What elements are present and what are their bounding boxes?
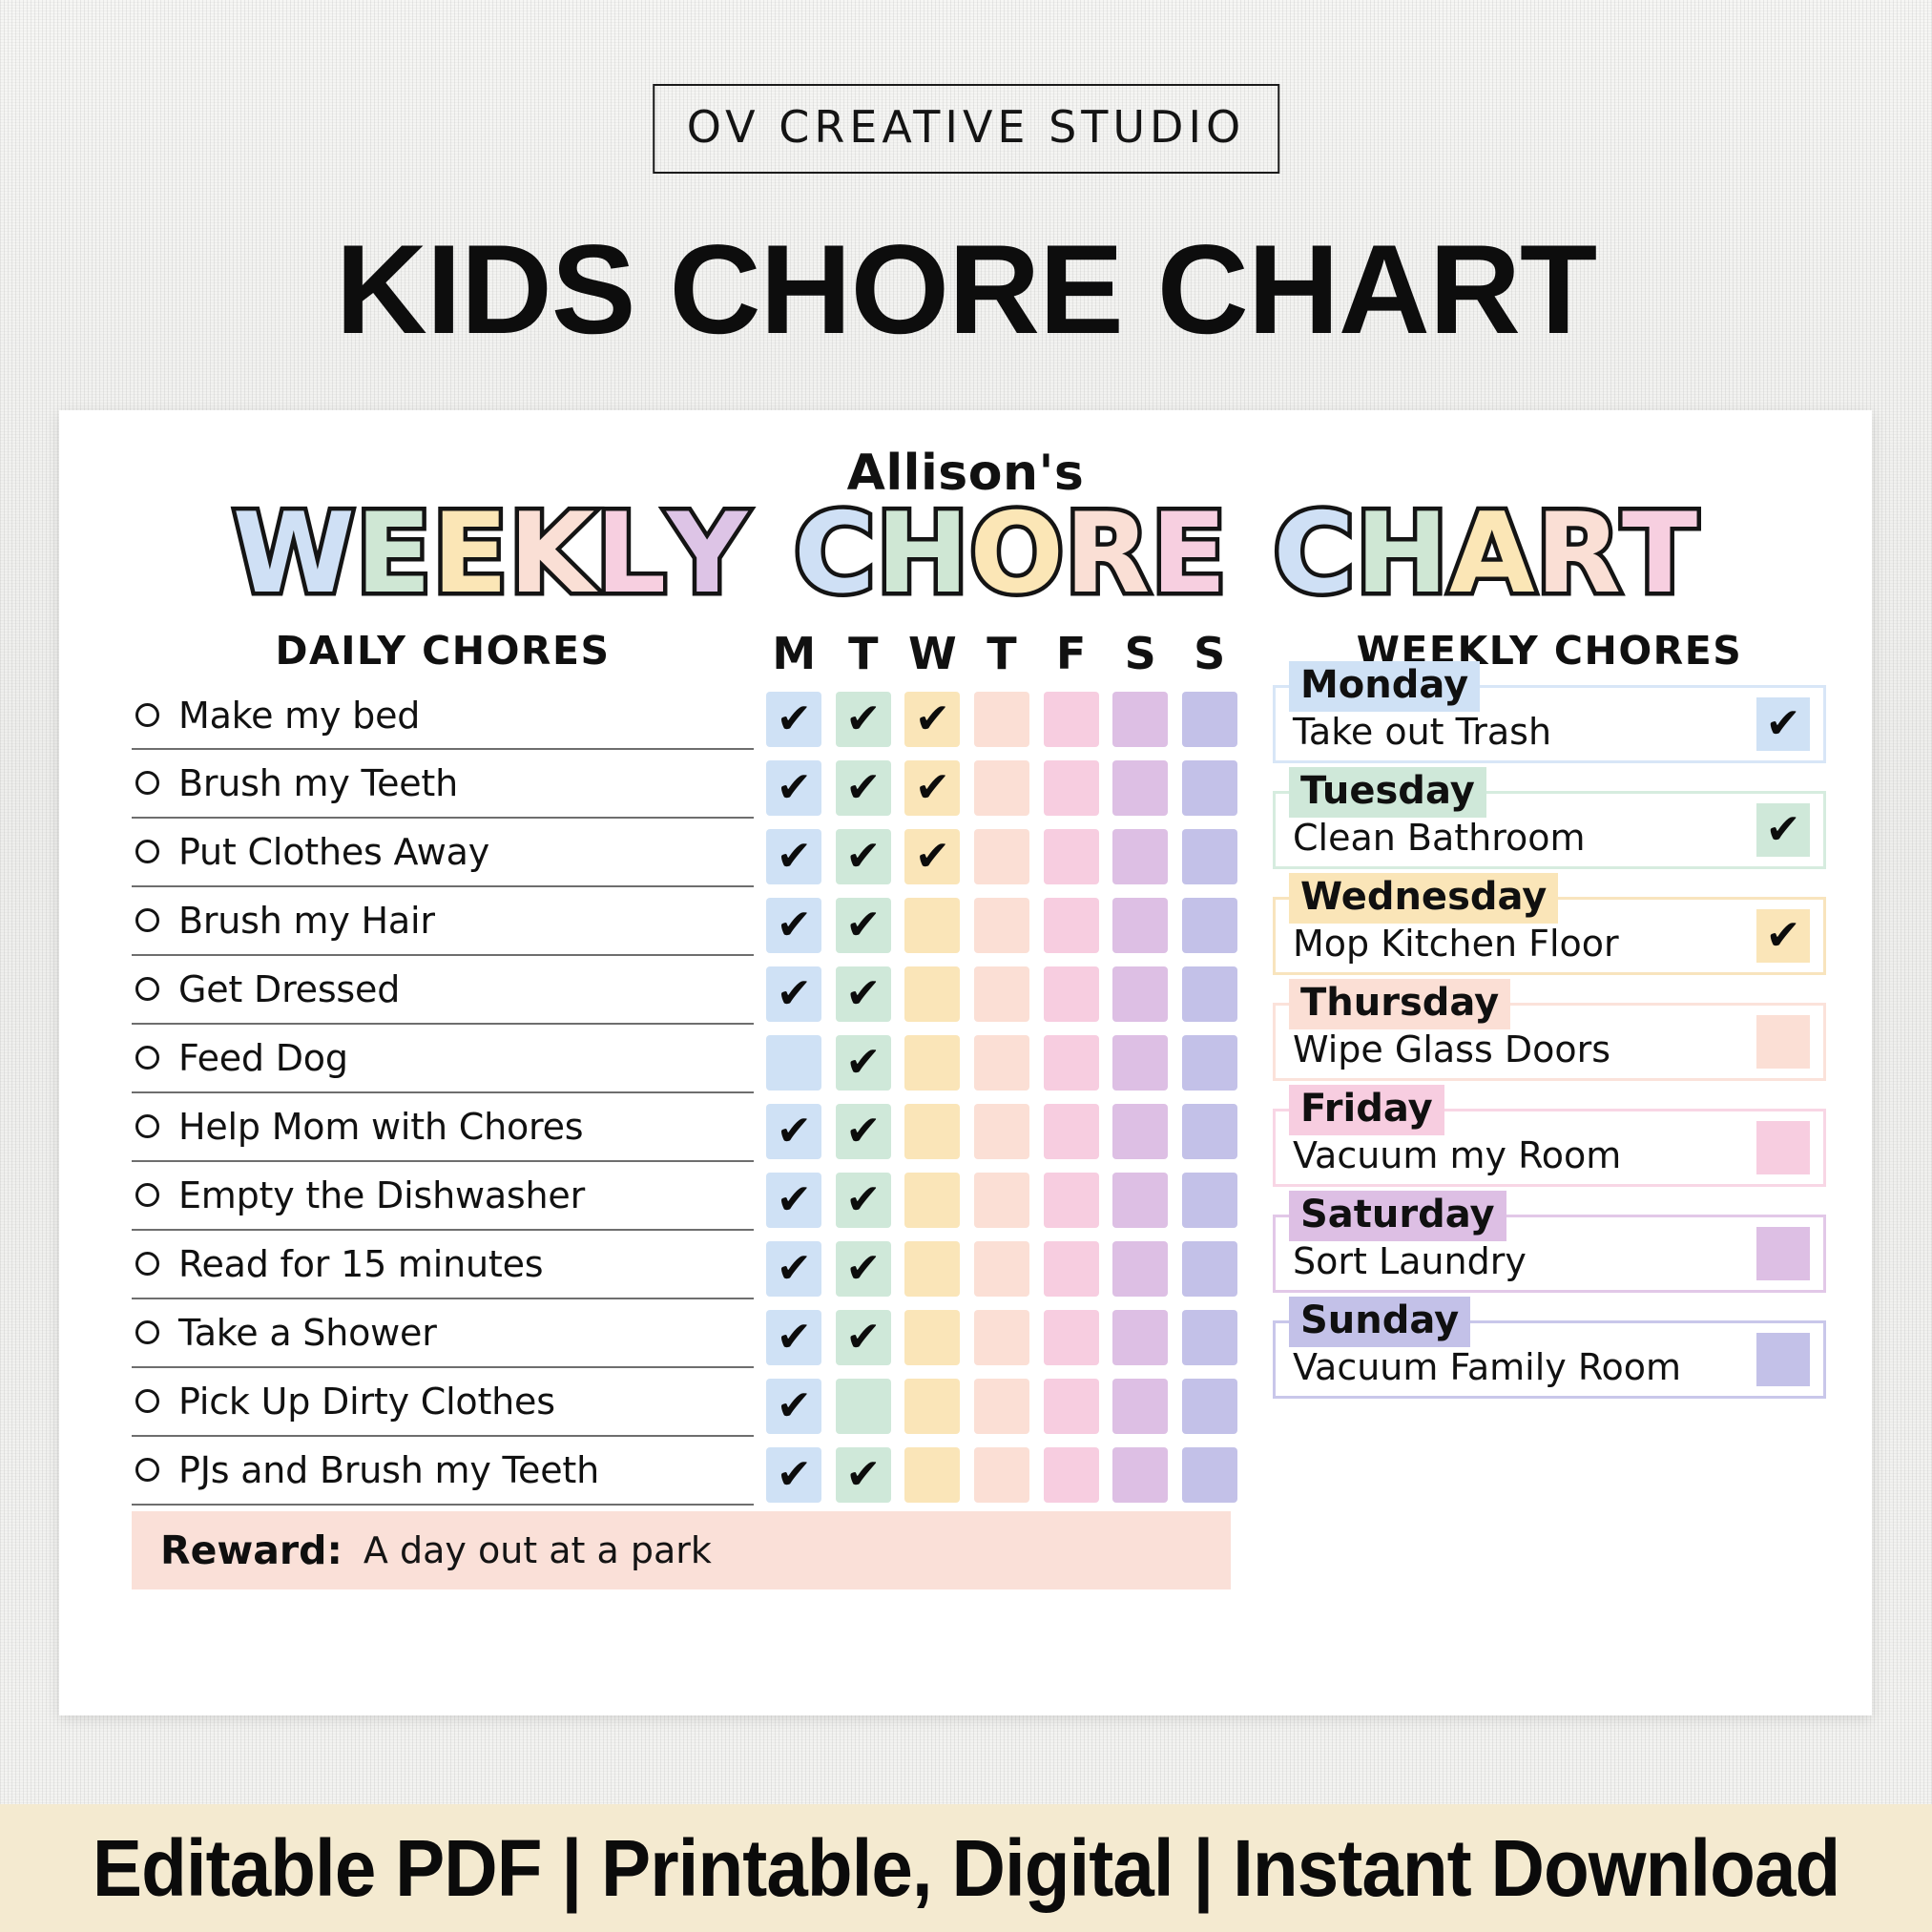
grid-cell-empty[interactable] (1182, 829, 1237, 884)
bubble-letter: E (356, 498, 432, 611)
grid-cell-wrapper: ✔ (759, 692, 829, 747)
bubble-word-chart: CHART (1274, 498, 1698, 611)
check-icon: ✔ (777, 1317, 812, 1359)
reward-value[interactable]: A day out at a park (364, 1529, 712, 1571)
grid-cell-empty[interactable] (766, 1035, 821, 1091)
grid-cell-empty[interactable] (1044, 1173, 1099, 1228)
bubble-word-chore: CHORE (794, 498, 1227, 611)
grid-cell-empty[interactable] (1112, 966, 1168, 1022)
weekly-checkbox-checked[interactable]: ✔ (1756, 697, 1810, 751)
grid-cell-wrapper (967, 1104, 1037, 1159)
week-grid-row: ✔✔✔ (759, 685, 1244, 754)
week-grid: ✔✔✔✔✔✔✔✔✔✔✔✔✔✔✔✔✔✔✔✔✔✔✔✔✔ (759, 685, 1244, 1509)
week-grid-row: ✔✔ (759, 1166, 1244, 1235)
circle-checkbox-icon[interactable] (135, 1252, 159, 1276)
bubble-letter: Y (667, 498, 748, 611)
grid-cell-checked[interactable]: ✔ (836, 966, 891, 1022)
grid-cell-wrapper: ✔ (759, 1104, 829, 1159)
grid-cell-wrapper (1106, 1241, 1175, 1297)
grid-cell-checked[interactable]: ✔ (766, 1241, 821, 1297)
grid-cell-wrapper (1036, 898, 1106, 953)
bubble-letter: E (1151, 498, 1227, 611)
grid-cell-checked[interactable]: ✔ (836, 692, 891, 747)
weekly-checkbox-checked[interactable]: ✔ (1756, 803, 1810, 857)
grid-cell-empty[interactable] (974, 692, 1029, 747)
weekly-day-label: Thursday (1289, 979, 1510, 1029)
grid-cell-checked[interactable]: ✔ (766, 898, 821, 953)
daily-chore-row[interactable]: Help Mom with Chores (132, 1093, 754, 1162)
grid-cell-checked[interactable]: ✔ (766, 1173, 821, 1228)
grid-cell-wrapper (898, 966, 967, 1022)
grid-cell-wrapper (1174, 1173, 1244, 1228)
grid-cell-wrapper: ✔ (829, 1241, 899, 1297)
grid-cell-empty[interactable] (836, 1379, 891, 1434)
daily-chore-label: Get Dressed (178, 968, 400, 1010)
check-icon: ✔ (777, 698, 812, 740)
grid-cell-empty[interactable] (904, 1241, 960, 1297)
daily-chore-row[interactable]: Pick Up Dirty Clothes (132, 1368, 754, 1437)
grid-cell-empty[interactable] (1112, 898, 1168, 953)
weekly-chore-card[interactable]: SaturdaySort Laundry (1273, 1215, 1826, 1293)
grid-cell-empty[interactable] (1182, 898, 1237, 953)
grid-cell-wrapper (1106, 1173, 1175, 1228)
check-icon: ✔ (777, 1111, 812, 1153)
bubble-letter: T (1622, 498, 1698, 611)
grid-cell-wrapper: ✔ (829, 898, 899, 953)
grid-cell-checked[interactable]: ✔ (766, 1447, 821, 1503)
grid-cell-wrapper (1174, 692, 1244, 747)
grid-cell-empty[interactable] (974, 1310, 1029, 1365)
grid-cell-empty[interactable] (1182, 1173, 1237, 1228)
grid-cell-wrapper (898, 1447, 967, 1503)
weekly-task-label: Wipe Glass Doors (1293, 1028, 1610, 1070)
grid-cell-wrapper (898, 1310, 967, 1365)
grid-cell-wrapper (967, 1310, 1037, 1365)
check-icon: ✔ (845, 973, 881, 1015)
circle-checkbox-icon[interactable] (135, 1046, 159, 1070)
weekly-task-label: Clean Bathroom (1293, 817, 1586, 859)
grid-cell-wrapper (898, 898, 967, 953)
grid-cell-wrapper (1174, 829, 1244, 884)
grid-cell-wrapper (1036, 692, 1106, 747)
grid-cell-wrapper: ✔ (898, 760, 967, 816)
circle-checkbox-icon[interactable] (135, 1183, 159, 1207)
grid-cell-wrapper (1036, 1447, 1106, 1503)
week-grid-row: ✔ (759, 1028, 1244, 1097)
grid-cell-wrapper (967, 1035, 1037, 1091)
grid-cell-empty[interactable] (1182, 692, 1237, 747)
daily-chore-row[interactable]: Take a Shower (132, 1299, 754, 1368)
weekly-chore-card[interactable]: TuesdayClean Bathroom✔ (1273, 791, 1826, 869)
circle-checkbox-icon[interactable] (135, 703, 159, 727)
check-icon: ✔ (845, 1179, 881, 1221)
grid-cell-wrapper (898, 1035, 967, 1091)
grid-cell-empty[interactable] (974, 898, 1029, 953)
circle-checkbox-icon[interactable] (135, 1389, 159, 1413)
grid-cell-empty[interactable] (1044, 1379, 1099, 1434)
daily-chore-label: Brush my Teeth (178, 762, 458, 804)
grid-cell-empty[interactable] (974, 1173, 1029, 1228)
grid-cell-wrapper (1036, 1173, 1106, 1228)
weekly-chore-card[interactable]: MondayTake out Trash✔ (1273, 685, 1826, 763)
grid-cell-checked[interactable]: ✔ (836, 1310, 891, 1365)
daily-chore-row[interactable]: Put Clothes Away (132, 819, 754, 887)
grid-cell-wrapper: ✔ (759, 829, 829, 884)
promo-text: Editable PDF | Printable, Digital | Inst… (93, 1822, 1839, 1915)
grid-cell-wrapper: ✔ (759, 1241, 829, 1297)
grid-cell-empty[interactable] (1112, 1104, 1168, 1159)
grid-cell-wrapper (1174, 1241, 1244, 1297)
check-icon: ✔ (777, 904, 812, 946)
grid-cell-wrapper (1174, 1035, 1244, 1091)
check-icon: ✔ (777, 767, 812, 809)
grid-cell-wrapper (1106, 692, 1175, 747)
grid-cell-empty[interactable] (1112, 1241, 1168, 1297)
grid-cell-wrapper (1106, 1035, 1175, 1091)
grid-cell-empty[interactable] (904, 1035, 960, 1091)
check-icon: ✔ (845, 1042, 881, 1084)
weekly-checkbox-empty[interactable] (1756, 1121, 1810, 1174)
grid-cell-wrapper (898, 1379, 967, 1434)
daily-chore-label: Empty the Dishwasher (178, 1174, 585, 1216)
circle-checkbox-icon[interactable] (135, 908, 159, 932)
promo-banner: Editable PDF | Printable, Digital | Inst… (0, 1804, 1932, 1932)
grid-cell-wrapper: ✔ (829, 1447, 899, 1503)
check-icon: ✔ (1766, 915, 1801, 957)
check-icon: ✔ (845, 1111, 881, 1153)
bubble-letter: E (432, 498, 509, 611)
grid-cell-wrapper (1174, 898, 1244, 953)
bubble-letter: C (1274, 498, 1356, 611)
grid-cell-checked[interactable]: ✔ (766, 829, 821, 884)
sheet-body: DAILY CHORES Make my bedBrush my TeethPu… (59, 628, 1872, 1509)
grid-cell-wrapper (1036, 829, 1106, 884)
grid-cell-wrapper (1106, 1447, 1175, 1503)
week-grid-row: ✔✔ (759, 891, 1244, 960)
brand-plate: OV CREATIVE STUDIO (653, 84, 1280, 174)
grid-cell-wrapper (759, 1035, 829, 1091)
grid-cell-wrapper (1036, 1104, 1106, 1159)
weekly-chore-card[interactable]: ThursdayWipe Glass Doors (1273, 1003, 1826, 1081)
daily-chore-row[interactable]: Brush my Hair (132, 887, 754, 956)
weekly-task-label: Vacuum Family Room (1293, 1346, 1681, 1388)
grid-cell-checked[interactable]: ✔ (836, 760, 891, 816)
weekly-task-label: Mop Kitchen Floor (1293, 923, 1619, 965)
grid-cell-checked[interactable]: ✔ (836, 1447, 891, 1503)
grid-cell-checked[interactable]: ✔ (904, 760, 960, 816)
week-grid-column: MTWTFSS ✔✔✔✔✔✔✔✔✔✔✔✔✔✔✔✔✔✔✔✔✔✔✔✔✔ (754, 628, 1250, 1509)
bubble-letter: H (876, 498, 969, 611)
grid-cell-empty[interactable] (1182, 1447, 1237, 1503)
grid-cell-wrapper: ✔ (759, 1447, 829, 1503)
bubble-letter: W (233, 498, 356, 611)
daily-chore-row[interactable]: Feed Dog (132, 1025, 754, 1093)
circle-checkbox-icon[interactable] (135, 840, 159, 863)
grid-cell-wrapper: ✔ (759, 1379, 829, 1434)
day-header: T (829, 628, 899, 679)
grid-cell-empty[interactable] (1182, 1379, 1237, 1434)
chore-chart-sheet: Allison's WEEKLYCHORECHART DAILY CHORES … (59, 410, 1872, 1715)
weekly-checkbox-empty[interactable] (1756, 1227, 1810, 1280)
grid-cell-wrapper (1174, 1310, 1244, 1365)
reward-label: Reward: (160, 1527, 343, 1573)
check-icon: ✔ (915, 767, 950, 809)
grid-cell-empty[interactable] (974, 829, 1029, 884)
grid-cell-wrapper (1106, 898, 1175, 953)
daily-chore-row[interactable]: Make my bed (132, 681, 754, 750)
grid-cell-empty[interactable] (974, 1104, 1029, 1159)
grid-cell-wrapper: ✔ (898, 692, 967, 747)
grid-cell-empty[interactable] (1112, 692, 1168, 747)
grid-cell-empty[interactable] (1112, 1447, 1168, 1503)
grid-cell-wrapper (1106, 829, 1175, 884)
grid-cell-wrapper: ✔ (829, 1310, 899, 1365)
grid-cell-wrapper: ✔ (759, 1310, 829, 1365)
weekly-checkbox-checked[interactable]: ✔ (1756, 909, 1810, 963)
grid-cell-empty[interactable] (1044, 1104, 1099, 1159)
check-icon: ✔ (845, 767, 881, 809)
weekly-day-label: Saturday (1289, 1191, 1506, 1241)
sheet-title-block: Allison's WEEKLYCHORECHART (59, 445, 1872, 611)
grid-cell-empty[interactable] (1182, 760, 1237, 816)
page-title: KIDS CHORE CHART (0, 218, 1932, 363)
grid-cell-wrapper: ✔ (829, 1104, 899, 1159)
day-header: S (1174, 628, 1244, 679)
week-grid-row: ✔ (759, 1372, 1244, 1441)
reward-bar: Reward: A day out at a park (132, 1511, 1231, 1589)
grid-cell-wrapper (1036, 760, 1106, 816)
daily-chore-row[interactable]: PJs and Brush my Teeth (132, 1437, 754, 1506)
grid-cell-checked[interactable]: ✔ (904, 692, 960, 747)
check-icon: ✔ (777, 1179, 812, 1221)
check-icon: ✔ (845, 698, 881, 740)
grid-cell-wrapper: ✔ (829, 829, 899, 884)
grid-cell-empty[interactable] (1044, 898, 1099, 953)
day-header: T (967, 628, 1037, 679)
bubble-letter: A (1449, 498, 1536, 611)
circle-checkbox-icon[interactable] (135, 1320, 159, 1344)
weekly-checkbox-empty[interactable] (1756, 1015, 1810, 1069)
grid-cell-checked[interactable]: ✔ (836, 1241, 891, 1297)
grid-cell-wrapper: ✔ (759, 966, 829, 1022)
daily-chore-label: Take a Shower (178, 1312, 437, 1354)
grid-cell-empty[interactable] (1044, 760, 1099, 816)
week-grid-row: ✔✔ (759, 1303, 1244, 1372)
daily-chore-label: Help Mom with Chores (178, 1106, 583, 1148)
circle-checkbox-icon[interactable] (135, 977, 159, 1001)
grid-cell-empty[interactable] (904, 898, 960, 953)
check-icon: ✔ (1766, 703, 1801, 745)
weekly-day-label: Monday (1289, 661, 1480, 712)
grid-cell-empty[interactable] (1044, 966, 1099, 1022)
grid-cell-empty[interactable] (904, 1173, 960, 1228)
bubble-letter: R (1065, 498, 1151, 611)
grid-cell-empty[interactable] (1112, 1035, 1168, 1091)
grid-cell-wrapper (967, 898, 1037, 953)
grid-cell-empty[interactable] (1044, 1447, 1099, 1503)
weekly-checkbox-empty[interactable] (1756, 1333, 1810, 1386)
grid-cell-wrapper (967, 1447, 1037, 1503)
grid-cell-wrapper (967, 829, 1037, 884)
weekly-chores-column: WEEKLY CHORES MondayTake out Trash✔Tuesd… (1250, 628, 1826, 1509)
grid-cell-empty[interactable] (1112, 1173, 1168, 1228)
grid-cell-checked[interactable]: ✔ (836, 1173, 891, 1228)
week-grid-row: ✔✔ (759, 1097, 1244, 1166)
grid-cell-empty[interactable] (1044, 1241, 1099, 1297)
grid-cell-wrapper (1036, 966, 1106, 1022)
grid-cell-wrapper (1036, 1035, 1106, 1091)
daily-chore-label: Make my bed (178, 695, 420, 737)
grid-cell-empty[interactable] (904, 1447, 960, 1503)
day-header: M (759, 628, 829, 679)
grid-cell-empty[interactable] (904, 966, 960, 1022)
daily-chores-column: DAILY CHORES Make my bedBrush my TeethPu… (105, 628, 754, 1509)
check-icon: ✔ (845, 836, 881, 878)
grid-cell-empty[interactable] (1182, 966, 1237, 1022)
grid-cell-checked[interactable]: ✔ (766, 760, 821, 816)
check-icon: ✔ (777, 1454, 812, 1496)
grid-cell-empty[interactable] (974, 760, 1029, 816)
grid-cell-wrapper (967, 1241, 1037, 1297)
grid-cell-wrapper (1036, 1379, 1106, 1434)
grid-cell-checked[interactable]: ✔ (766, 966, 821, 1022)
weekly-chore-card[interactable]: WednesdayMop Kitchen Floor✔ (1273, 897, 1826, 975)
day-header-row: MTWTFSS (759, 628, 1244, 679)
grid-cell-empty[interactable] (1182, 1035, 1237, 1091)
weekly-task-label: Take out Trash (1293, 711, 1551, 753)
day-header: F (1036, 628, 1106, 679)
grid-cell-wrapper (1106, 1379, 1175, 1434)
daily-chore-row[interactable]: Get Dressed (132, 956, 754, 1025)
weekly-task-label: Vacuum my Room (1293, 1134, 1621, 1176)
daily-chore-label: Feed Dog (178, 1037, 348, 1079)
grid-cell-wrapper (1174, 760, 1244, 816)
day-header: S (1106, 628, 1175, 679)
check-icon: ✔ (915, 836, 950, 878)
grid-cell-empty[interactable] (974, 1379, 1029, 1434)
grid-cell-empty[interactable] (904, 1310, 960, 1365)
grid-cell-wrapper: ✔ (829, 760, 899, 816)
grid-cell-wrapper (1036, 1310, 1106, 1365)
grid-cell-wrapper (967, 966, 1037, 1022)
check-icon: ✔ (845, 1454, 881, 1496)
day-header: W (898, 628, 967, 679)
week-grid-row: ✔✔ (759, 960, 1244, 1028)
bubble-letter: H (1356, 498, 1449, 611)
circle-checkbox-icon[interactable] (135, 771, 159, 795)
daily-chores-list: Make my bedBrush my TeethPut Clothes Awa… (132, 681, 754, 1506)
daily-chore-label: Brush my Hair (178, 900, 435, 942)
bubble-letter: L (595, 498, 667, 611)
grid-cell-checked[interactable]: ✔ (836, 1035, 891, 1091)
grid-cell-wrapper (898, 1241, 967, 1297)
grid-cell-wrapper: ✔ (759, 760, 829, 816)
grid-cell-checked[interactable]: ✔ (836, 898, 891, 953)
grid-cell-empty[interactable] (1044, 1035, 1099, 1091)
grid-cell-wrapper (898, 1173, 967, 1228)
check-icon: ✔ (777, 1385, 812, 1427)
grid-cell-empty[interactable] (904, 1379, 960, 1434)
grid-cell-wrapper (1036, 1241, 1106, 1297)
grid-cell-empty[interactable] (1112, 1379, 1168, 1434)
grid-cell-wrapper: ✔ (759, 898, 829, 953)
circle-checkbox-icon[interactable] (135, 1114, 159, 1138)
daily-chores-heading: DAILY CHORES (132, 628, 754, 674)
grid-cell-empty[interactable] (1182, 1310, 1237, 1365)
grid-cell-empty[interactable] (1044, 692, 1099, 747)
check-icon: ✔ (845, 1248, 881, 1290)
grid-cell-empty[interactable] (1044, 1310, 1099, 1365)
grid-cell-empty[interactable] (974, 1035, 1029, 1091)
bubble-letter: K (509, 498, 595, 611)
brand-name: OV CREATIVE STUDIO (687, 101, 1246, 153)
grid-cell-wrapper (1106, 1104, 1175, 1159)
daily-chore-row[interactable]: Brush my Teeth (132, 750, 754, 819)
grid-cell-checked[interactable]: ✔ (904, 829, 960, 884)
grid-cell-checked[interactable]: ✔ (836, 1104, 891, 1159)
daily-chore-row[interactable]: Read for 15 minutes (132, 1231, 754, 1299)
grid-cell-empty[interactable] (974, 1241, 1029, 1297)
grid-cell-wrapper: ✔ (759, 1173, 829, 1228)
grid-cell-wrapper (898, 1104, 967, 1159)
grid-cell-wrapper (1106, 966, 1175, 1022)
check-icon: ✔ (777, 836, 812, 878)
grid-cell-wrapper (1174, 1447, 1244, 1503)
grid-cell-checked[interactable]: ✔ (766, 1104, 821, 1159)
daily-chore-row[interactable]: Empty the Dishwasher (132, 1162, 754, 1231)
grid-cell-wrapper: ✔ (829, 1173, 899, 1228)
weekly-day-label: Sunday (1289, 1297, 1470, 1347)
grid-cell-wrapper (829, 1379, 899, 1434)
grid-cell-empty[interactable] (974, 1447, 1029, 1503)
bubble-word-weekly: WEEKLY (233, 498, 748, 611)
bubble-title: WEEKLYCHORECHART (59, 498, 1872, 611)
circle-checkbox-icon[interactable] (135, 1458, 159, 1482)
grid-cell-empty[interactable] (1112, 1310, 1168, 1365)
grid-cell-wrapper (1174, 1104, 1244, 1159)
grid-cell-empty[interactable] (974, 966, 1029, 1022)
daily-chore-label: Put Clothes Away (178, 831, 489, 873)
grid-cell-wrapper: ✔ (829, 692, 899, 747)
grid-cell-checked[interactable]: ✔ (766, 1310, 821, 1365)
daily-chore-label: Read for 15 minutes (178, 1243, 543, 1285)
check-icon: ✔ (777, 973, 812, 1015)
daily-chore-label: Pick Up Dirty Clothes (178, 1381, 555, 1423)
bubble-letter: O (969, 498, 1065, 611)
check-icon: ✔ (845, 904, 881, 946)
weekly-chores-list: MondayTake out Trash✔TuesdayClean Bathro… (1273, 685, 1826, 1399)
week-grid-row: ✔✔ (759, 1441, 1244, 1509)
grid-cell-empty[interactable] (904, 1104, 960, 1159)
check-icon: ✔ (1766, 809, 1801, 851)
check-icon: ✔ (915, 698, 950, 740)
check-icon: ✔ (777, 1248, 812, 1290)
grid-cell-empty[interactable] (1112, 829, 1168, 884)
grid-cell-wrapper: ✔ (829, 1035, 899, 1091)
grid-cell-empty[interactable] (1044, 829, 1099, 884)
weekly-chore-card[interactable]: SundayVacuum Family Room (1273, 1320, 1826, 1399)
grid-cell-empty[interactable] (1112, 760, 1168, 816)
grid-cell-checked[interactable]: ✔ (836, 829, 891, 884)
grid-cell-wrapper (967, 1379, 1037, 1434)
grid-cell-checked[interactable]: ✔ (766, 692, 821, 747)
grid-cell-empty[interactable] (1182, 1241, 1237, 1297)
grid-cell-empty[interactable] (1182, 1104, 1237, 1159)
grid-cell-checked[interactable]: ✔ (766, 1379, 821, 1434)
weekly-chore-card[interactable]: FridayVacuum my Room (1273, 1109, 1826, 1187)
daily-chore-label: PJs and Brush my Teeth (178, 1449, 599, 1491)
grid-cell-wrapper: ✔ (829, 966, 899, 1022)
